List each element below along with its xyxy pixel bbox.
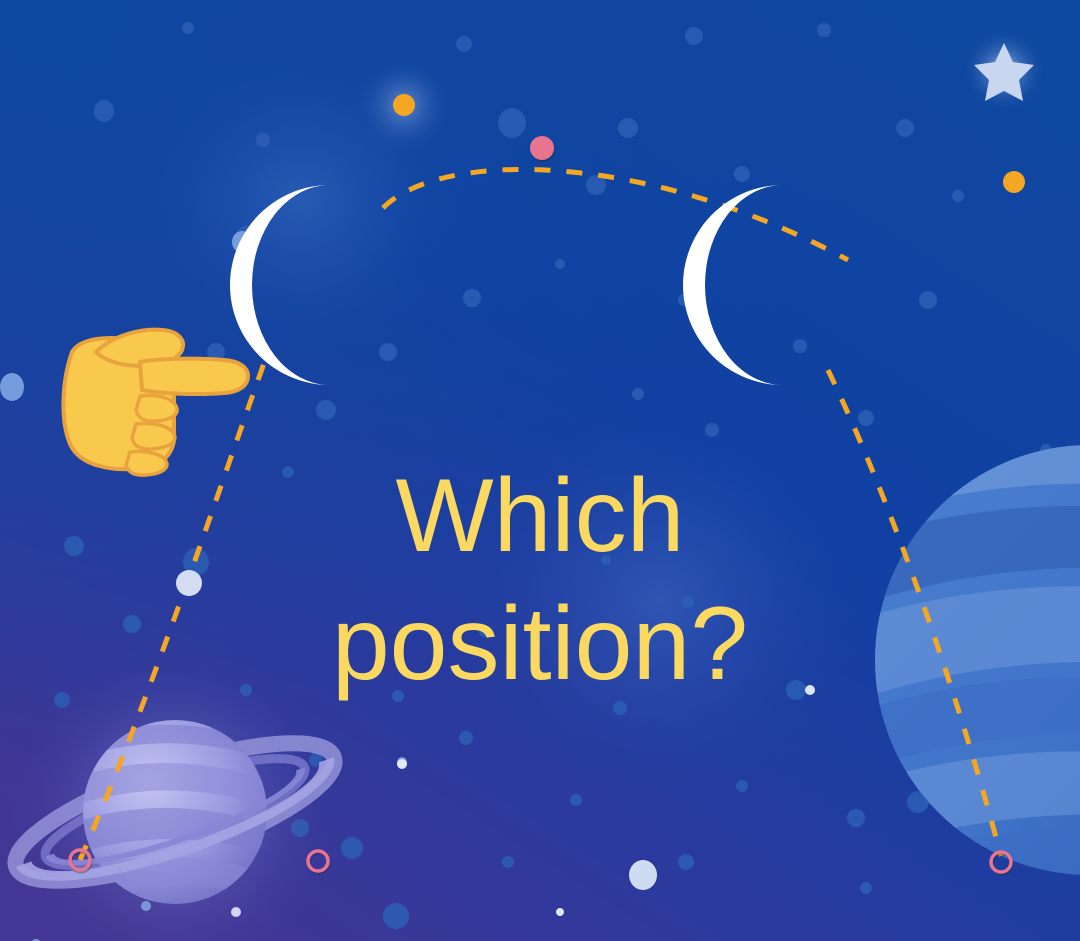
- white-blob: [629, 860, 657, 890]
- question-line-1: Which: [396, 458, 685, 574]
- five-point-star: [962, 28, 1046, 112]
- hand-middle-finger: [136, 395, 177, 421]
- question-line-2: position?: [332, 586, 748, 702]
- orange-glow-dot: [354, 55, 454, 155]
- orange-dot: [1003, 171, 1025, 193]
- hand-index-finger: [140, 359, 248, 394]
- hand-ring-finger: [132, 423, 175, 449]
- space-scene-illustration: Whichposition?: [0, 0, 1080, 941]
- page-title: Whichposition?: [0, 452, 1080, 708]
